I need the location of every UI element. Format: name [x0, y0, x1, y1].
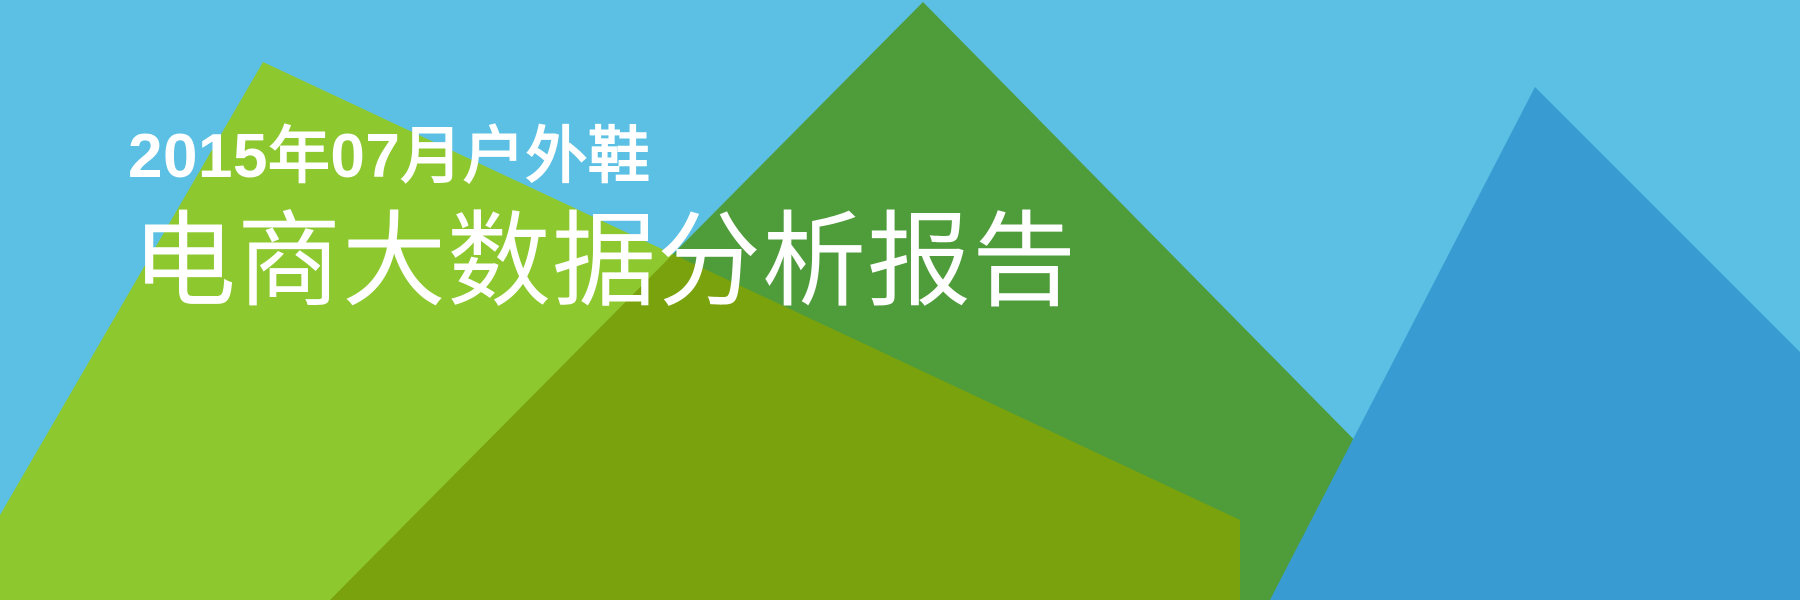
report-title-banner: 2015年07月户外鞋 电商大数据分析报告	[0, 0, 1800, 600]
background-geometric-artwork	[0, 0, 1800, 600]
